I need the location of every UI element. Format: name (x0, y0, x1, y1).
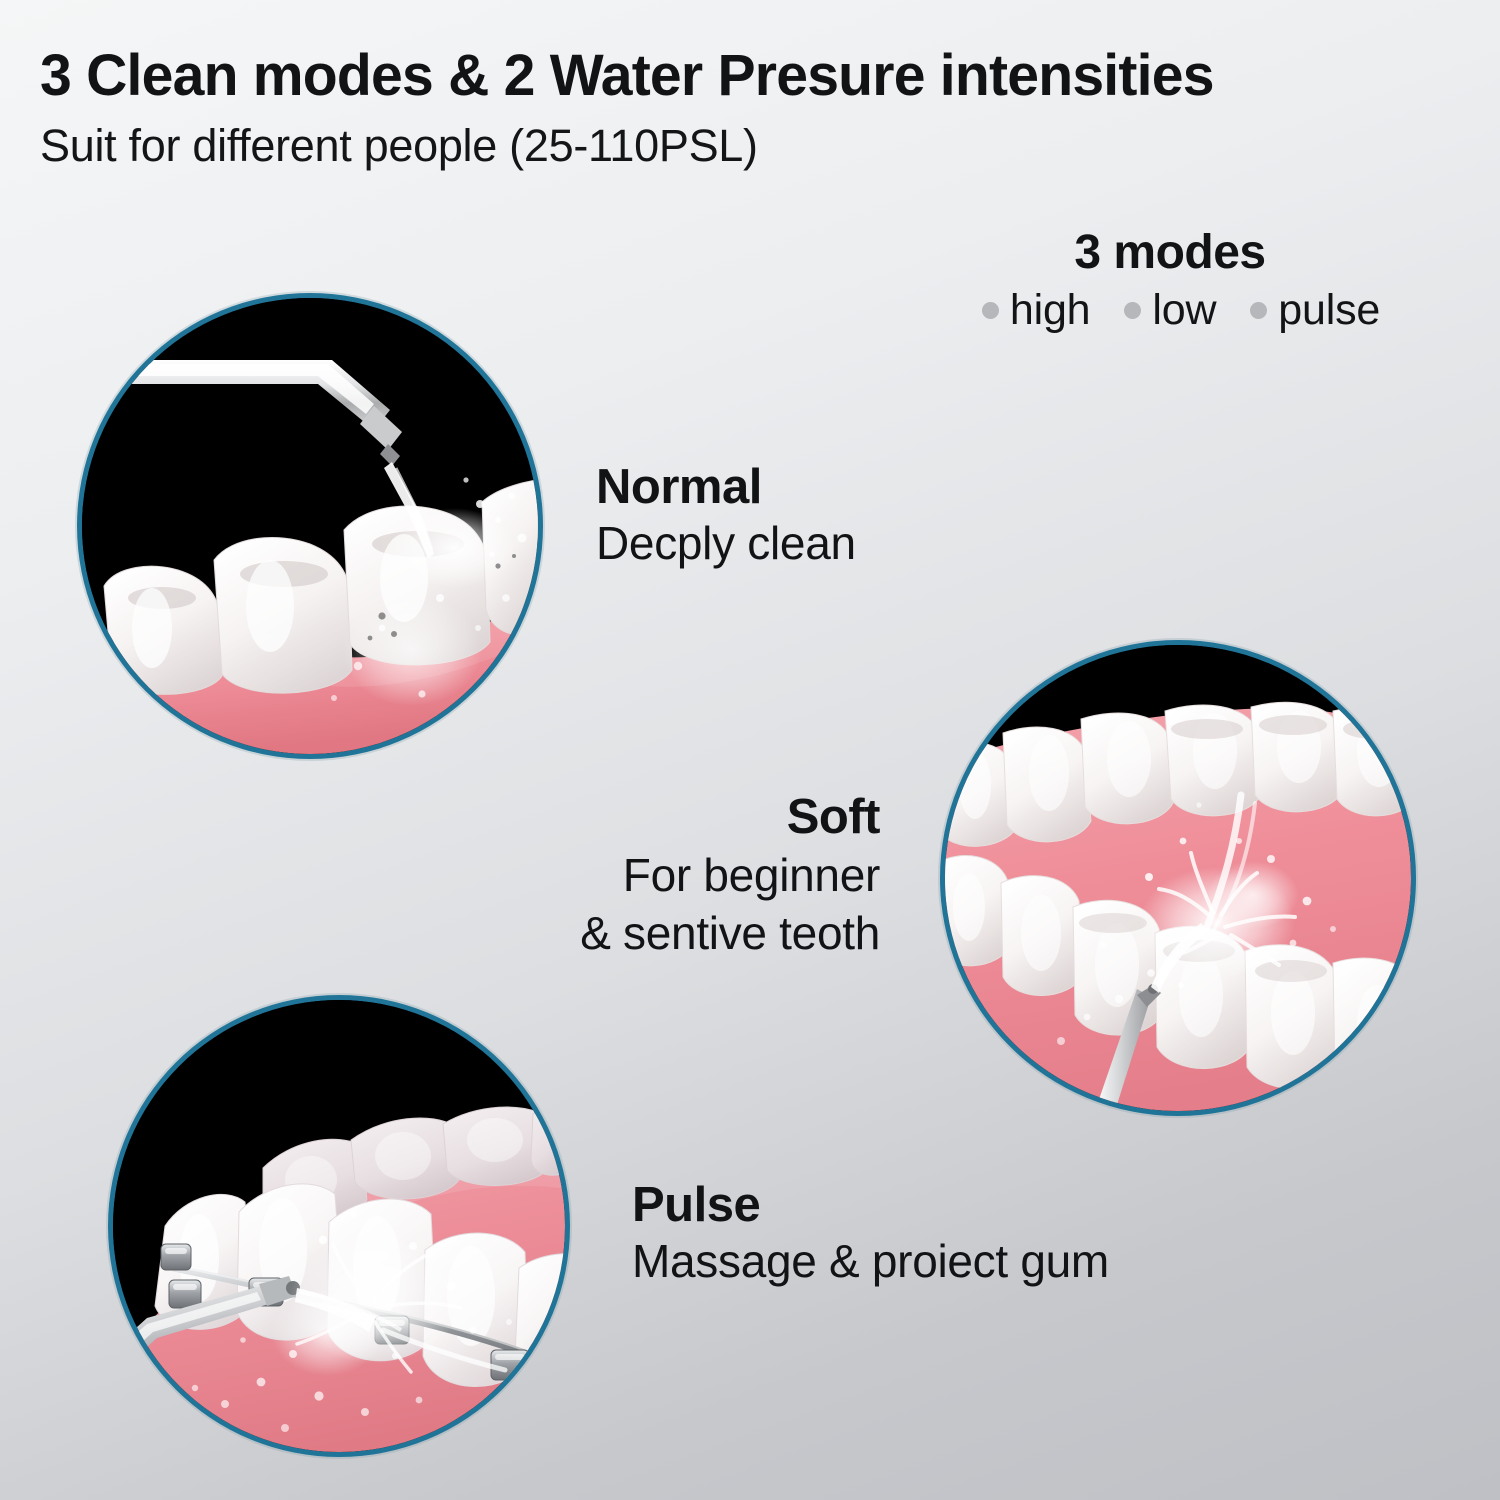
feature-caption-pulse: Pulse Massage & proiect gum (632, 1180, 1109, 1287)
feature-caption-normal: Normal Decply clean (596, 462, 856, 569)
feature-desc-normal: Decply clean (596, 518, 856, 570)
feature-image-normal (82, 298, 538, 754)
mode-item-high: high (982, 286, 1091, 335)
page-subtitle: Suit for different people (25-110PSL) (40, 120, 758, 172)
feature-image-soft (945, 645, 1411, 1111)
bullet-dot-icon (982, 302, 999, 319)
modes-block: 3 modes high low pulse (925, 228, 1445, 335)
feature-caption-soft: Soft For beginner & sentive teoth (360, 792, 880, 960)
mode-label-high: high (1010, 286, 1091, 335)
water-flosser-nozzle-spraying-lower-molars-illustration (82, 298, 538, 754)
water-jet-cleaning-teeth-with-braces-illustration (113, 1000, 565, 1452)
mode-item-pulse: pulse (1250, 286, 1380, 335)
water-jet-between-upper-and-lower-teeth-illustration (945, 645, 1411, 1111)
feature-head-pulse: Pulse (632, 1180, 1109, 1232)
bullet-dot-icon (1124, 302, 1141, 319)
bullet-dot-icon (1250, 302, 1267, 319)
modes-title: 3 modes (925, 228, 1445, 278)
feature-image-pulse (113, 1000, 565, 1452)
feature-desc-soft-line2: & sentive teoth (360, 906, 880, 960)
modes-list: high low pulse (925, 286, 1445, 335)
feature-head-soft: Soft (360, 792, 880, 844)
mode-label-low: low (1152, 286, 1216, 335)
feature-desc-pulse: Massage & proiect gum (632, 1236, 1109, 1288)
page-title: 3 Clean modes & 2 Water Presure intensit… (40, 42, 1214, 109)
feature-head-normal: Normal (596, 462, 856, 514)
mode-item-low: low (1124, 286, 1216, 335)
mode-label-pulse: pulse (1278, 286, 1380, 335)
feature-desc-soft-line1: For beginner (360, 848, 880, 902)
